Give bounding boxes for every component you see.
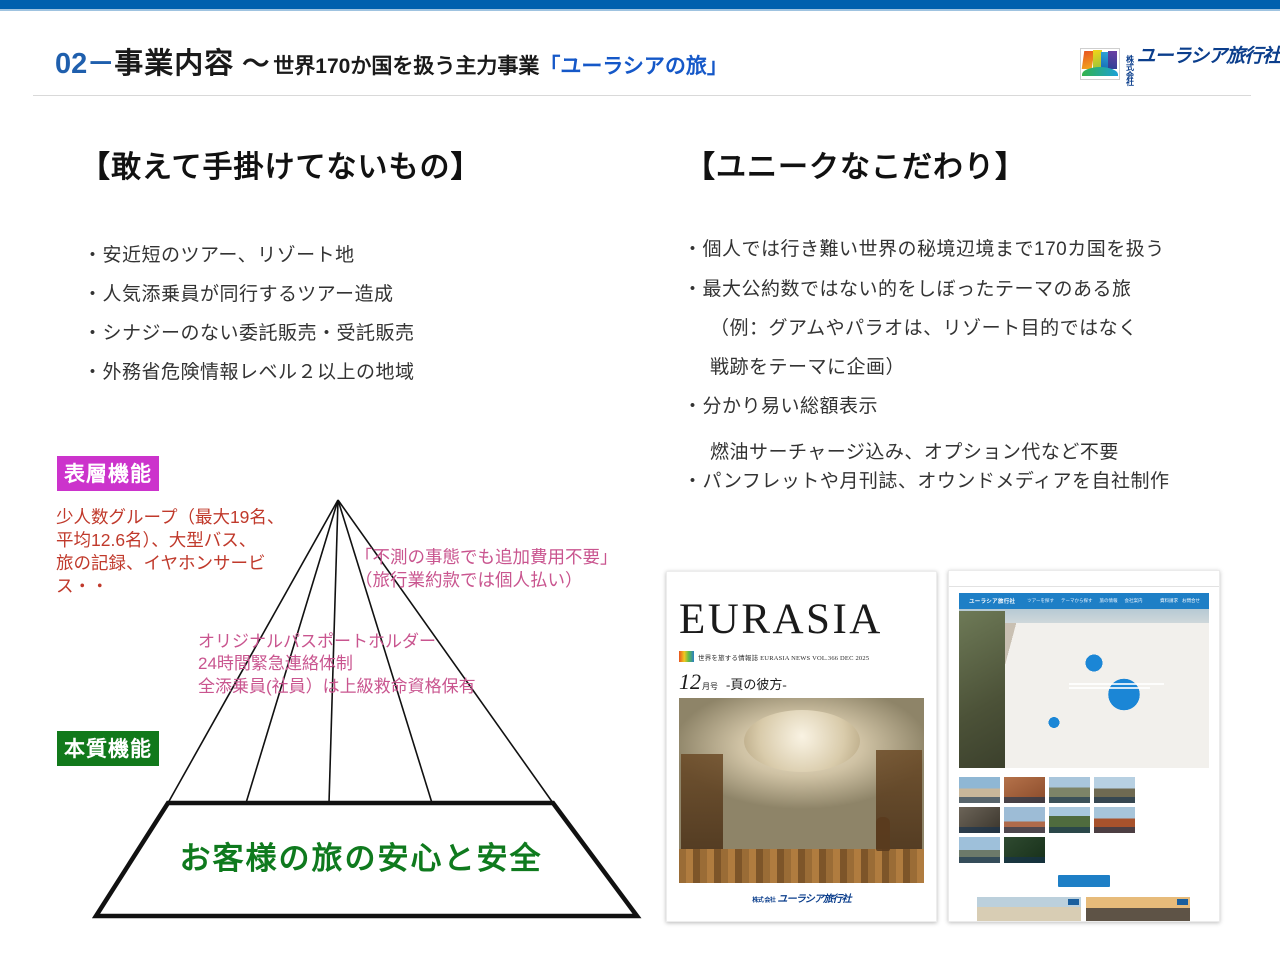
- website-browser-bar: [949, 571, 1219, 587]
- right-bullet-4: 戦跡をテーマに企画）: [710, 352, 905, 379]
- website-nav-bar[interactable]: ユーラシア旅行社 ツアーを探す テーマから探す 旅の情報 会社案内 資料請求 お…: [959, 593, 1209, 609]
- left-bullet-4: ・外務省危険情報レベル２以上の地域: [83, 357, 415, 384]
- website-nav-logo: ユーラシア旅行社: [969, 597, 1015, 605]
- logo-company-prefix: 株式 会社: [1126, 56, 1134, 86]
- title-subtitle: 世界170か国を扱う主力事業: [273, 55, 539, 78]
- logo-company-name: ユーラシア旅行社: [1137, 41, 1280, 68]
- thumbnail-item[interactable]: [959, 807, 1000, 833]
- magazine-cover-image: EURASIA 世界を旅する情報誌 EURASIA NEWS VOL.366 D…: [666, 571, 937, 922]
- right-column-heading: 【ユニークなこだわり】: [685, 142, 1026, 186]
- surface-text-left: 少人数グループ（最大19名、 平均12.6名）、大型バス、 旅の記録、イヤホンサ…: [56, 506, 284, 598]
- title-subtitle-accent: 「ユーラシアの旅」: [539, 55, 728, 78]
- thumbnail-item[interactable]: [1094, 777, 1135, 803]
- magazine-issue-number: 12: [679, 669, 701, 695]
- right-bullet-3: （例：グアムやパラオは、リゾート目的ではなく: [710, 313, 1138, 340]
- website-thumbnail-grid: [959, 777, 1209, 867]
- thumbnail-row-2: [959, 807, 1209, 833]
- thumbnail-item[interactable]: [1094, 807, 1135, 833]
- website-hero-photo: [959, 593, 1209, 768]
- magazine-chip-icon: [679, 651, 694, 662]
- thumbnail-item[interactable]: [959, 837, 1000, 863]
- magazine-photo-library: [679, 698, 924, 883]
- section-number: 02: [55, 48, 87, 80]
- website-cta-button[interactable]: [1058, 875, 1110, 887]
- left-bullet-1: ・安近短のツアー、リゾート地: [83, 240, 355, 267]
- thumbnail-item[interactable]: [1004, 777, 1045, 803]
- website-banner[interactable]: [977, 897, 1081, 921]
- website-nav-item-2[interactable]: 旅の情報: [1100, 598, 1118, 604]
- thumbnail-row-1: [959, 777, 1209, 803]
- page-title: 02－事業内容〜世界170か国を扱う主力事業「ユーラシアの旅」: [55, 40, 728, 82]
- title-tilde: 〜: [242, 49, 269, 79]
- logo-wordmark: 株式 会社 ユーラシア旅行社: [1126, 41, 1280, 86]
- thumbnail-row-3: [959, 837, 1209, 863]
- magazine-issue-unit: 月号: [702, 681, 718, 692]
- thumbnail-item[interactable]: [1049, 807, 1090, 833]
- website-nav-item-0[interactable]: ツアーを探す: [1027, 598, 1054, 604]
- right-bullet-2: ・最大公約数ではない的をしぼったテーマのある旅: [683, 274, 1132, 301]
- magazine-issue: 12 月号 -頁の彼方-: [679, 669, 924, 695]
- website-screenshot-image: ユーラシア旅行社 ツアーを探す テーマから探す 旅の情報 会社案内 資料請求 お…: [948, 570, 1220, 922]
- left-bullet-2: ・人気添乗員が同行するツアー造成: [83, 279, 393, 306]
- title-dash: －: [87, 49, 114, 79]
- website-hero: ユーラシア旅行社 ツアーを探す テーマから探す 旅の情報 会社案内 資料請求 お…: [959, 593, 1209, 768]
- left-column-heading: 【敢えて手掛けてないもの】: [80, 142, 482, 186]
- magazine-issue-theme: -頁の彼方-: [726, 674, 787, 693]
- title-main: 事業内容: [114, 48, 234, 80]
- magazine-footer-name: ユーラシア旅行社: [777, 890, 850, 905]
- top-accent-bar-shadow: [0, 9, 1280, 11]
- right-bullet-7: ・パンフレットや月刊誌、オウンドメディアを自社制作: [683, 466, 1170, 493]
- website-nav-item-1[interactable]: テーマから探す: [1061, 598, 1093, 604]
- website-nav-right-0[interactable]: 資料請求: [1160, 598, 1178, 604]
- top-accent-bar: [0, 0, 1280, 9]
- pyramid-middle-text: オリジナルパスポートホルダー 24時間緊急連絡体制 全添乗員(社員）は上級救命資…: [198, 631, 476, 698]
- right-bullet-5: ・分かり易い総額表示: [683, 391, 878, 418]
- thumbnail-item[interactable]: [1004, 807, 1045, 833]
- website-nav-item-3[interactable]: 会社案内: [1125, 598, 1143, 604]
- website-nav-right-1[interactable]: お問合せ: [1182, 598, 1200, 604]
- magazine-footer-logo: 株式 会社 ユーラシア旅行社: [679, 889, 924, 907]
- header-divider: [33, 95, 1251, 96]
- website-hero-caption: [1069, 681, 1179, 691]
- magazine-strip-text: 世界を旅する情報誌 EURASIA NEWS VOL.366 DEC 2025: [698, 652, 869, 662]
- right-bullet-6: 燃油サーチャージ込み、オプション代など不要: [710, 437, 1119, 464]
- left-bullet-3: ・シナジーのない委託販売・受託販売: [83, 318, 415, 345]
- magazine-footer-prefix: 株式 会社: [752, 895, 775, 904]
- company-logo: 株式 会社 ユーラシア旅行社: [1080, 46, 1260, 82]
- website-banner[interactable]: [1086, 897, 1190, 921]
- magazine-strip: 世界を旅する情報誌 EURASIA NEWS VOL.366 DEC 2025: [679, 651, 924, 662]
- thumbnail-item[interactable]: [1004, 837, 1045, 863]
- website-banner-row: [977, 897, 1190, 921]
- pyramid-base-text: お客様の旅の安心と安全: [168, 833, 554, 878]
- logo-mark-icon: [1080, 48, 1120, 80]
- thumbnail-item[interactable]: [1049, 777, 1090, 803]
- surface-text-right: 「不測の事態でも追加費用不要」 （旅行業約款では個人払い）: [355, 546, 618, 592]
- thumbnail-item[interactable]: [959, 777, 1000, 803]
- right-bullet-1: ・個人では行き難い世界の秘境辺境まで170カ国を扱う: [683, 234, 1165, 261]
- magazine-title: EURASIA: [679, 598, 924, 641]
